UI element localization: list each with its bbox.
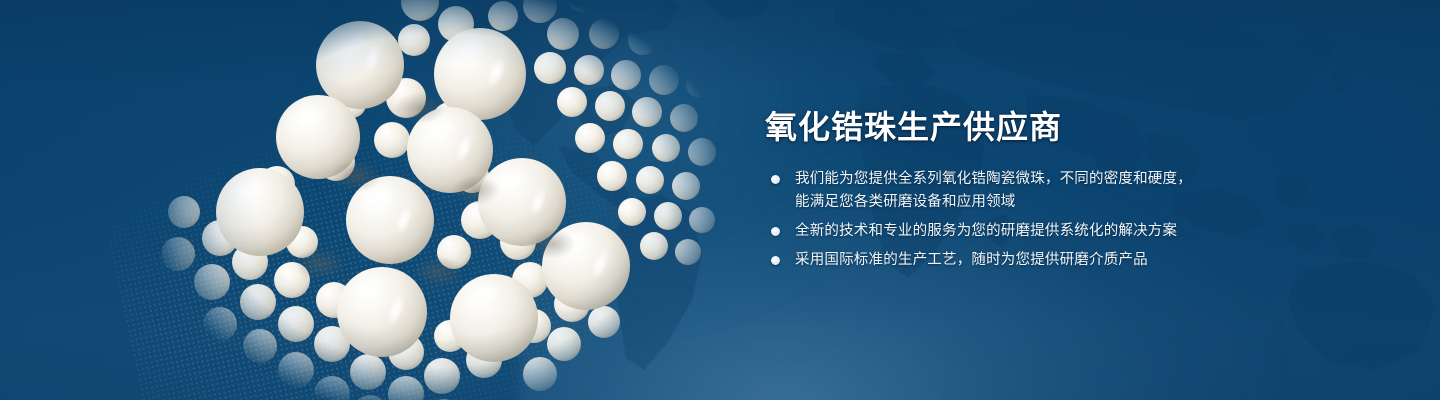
bullet-dot-icon — [771, 227, 780, 236]
bullet-dot-icon — [771, 256, 780, 265]
list-item-line: 我们能为您提供全系列氧化锆陶瓷微珠，不同的密度和硬度， — [795, 168, 1397, 191]
list-item: 采用国际标准的生产工艺，随时为您提供研磨介质产品 — [767, 249, 1397, 272]
page-title: 氧化锆珠生产供应商 — [765, 108, 1062, 146]
hero-banner: 氧化锆珠生产供应商 我们能为您提供全系列氧化锆陶瓷微珠，不同的密度和硬度， 能满… — [0, 0, 1440, 400]
zirconia-beads-photo — [120, 0, 740, 400]
list-item: 我们能为您提供全系列氧化锆陶瓷微珠，不同的密度和硬度， 能满足您各类研磨设备和应… — [767, 168, 1397, 214]
feature-list: 我们能为您提供全系列氧化锆陶瓷微珠，不同的密度和硬度， 能满足您各类研磨设备和应… — [767, 168, 1397, 278]
list-item: 全新的技术和专业的服务为您的研磨提供系统化的解决方案 — [767, 220, 1397, 243]
banner-content: 氧化锆珠生产供应商 我们能为您提供全系列氧化锆陶瓷微珠，不同的密度和硬度， 能满… — [765, 0, 1405, 400]
list-item-line: 全新的技术和专业的服务为您的研磨提供系统化的解决方案 — [795, 220, 1397, 243]
bullet-dot-icon — [771, 175, 780, 184]
list-item-line: 采用国际标准的生产工艺，随时为您提供研磨介质产品 — [795, 249, 1397, 272]
list-item-line: 能满足您各类研磨设备和应用领域 — [795, 191, 1397, 214]
